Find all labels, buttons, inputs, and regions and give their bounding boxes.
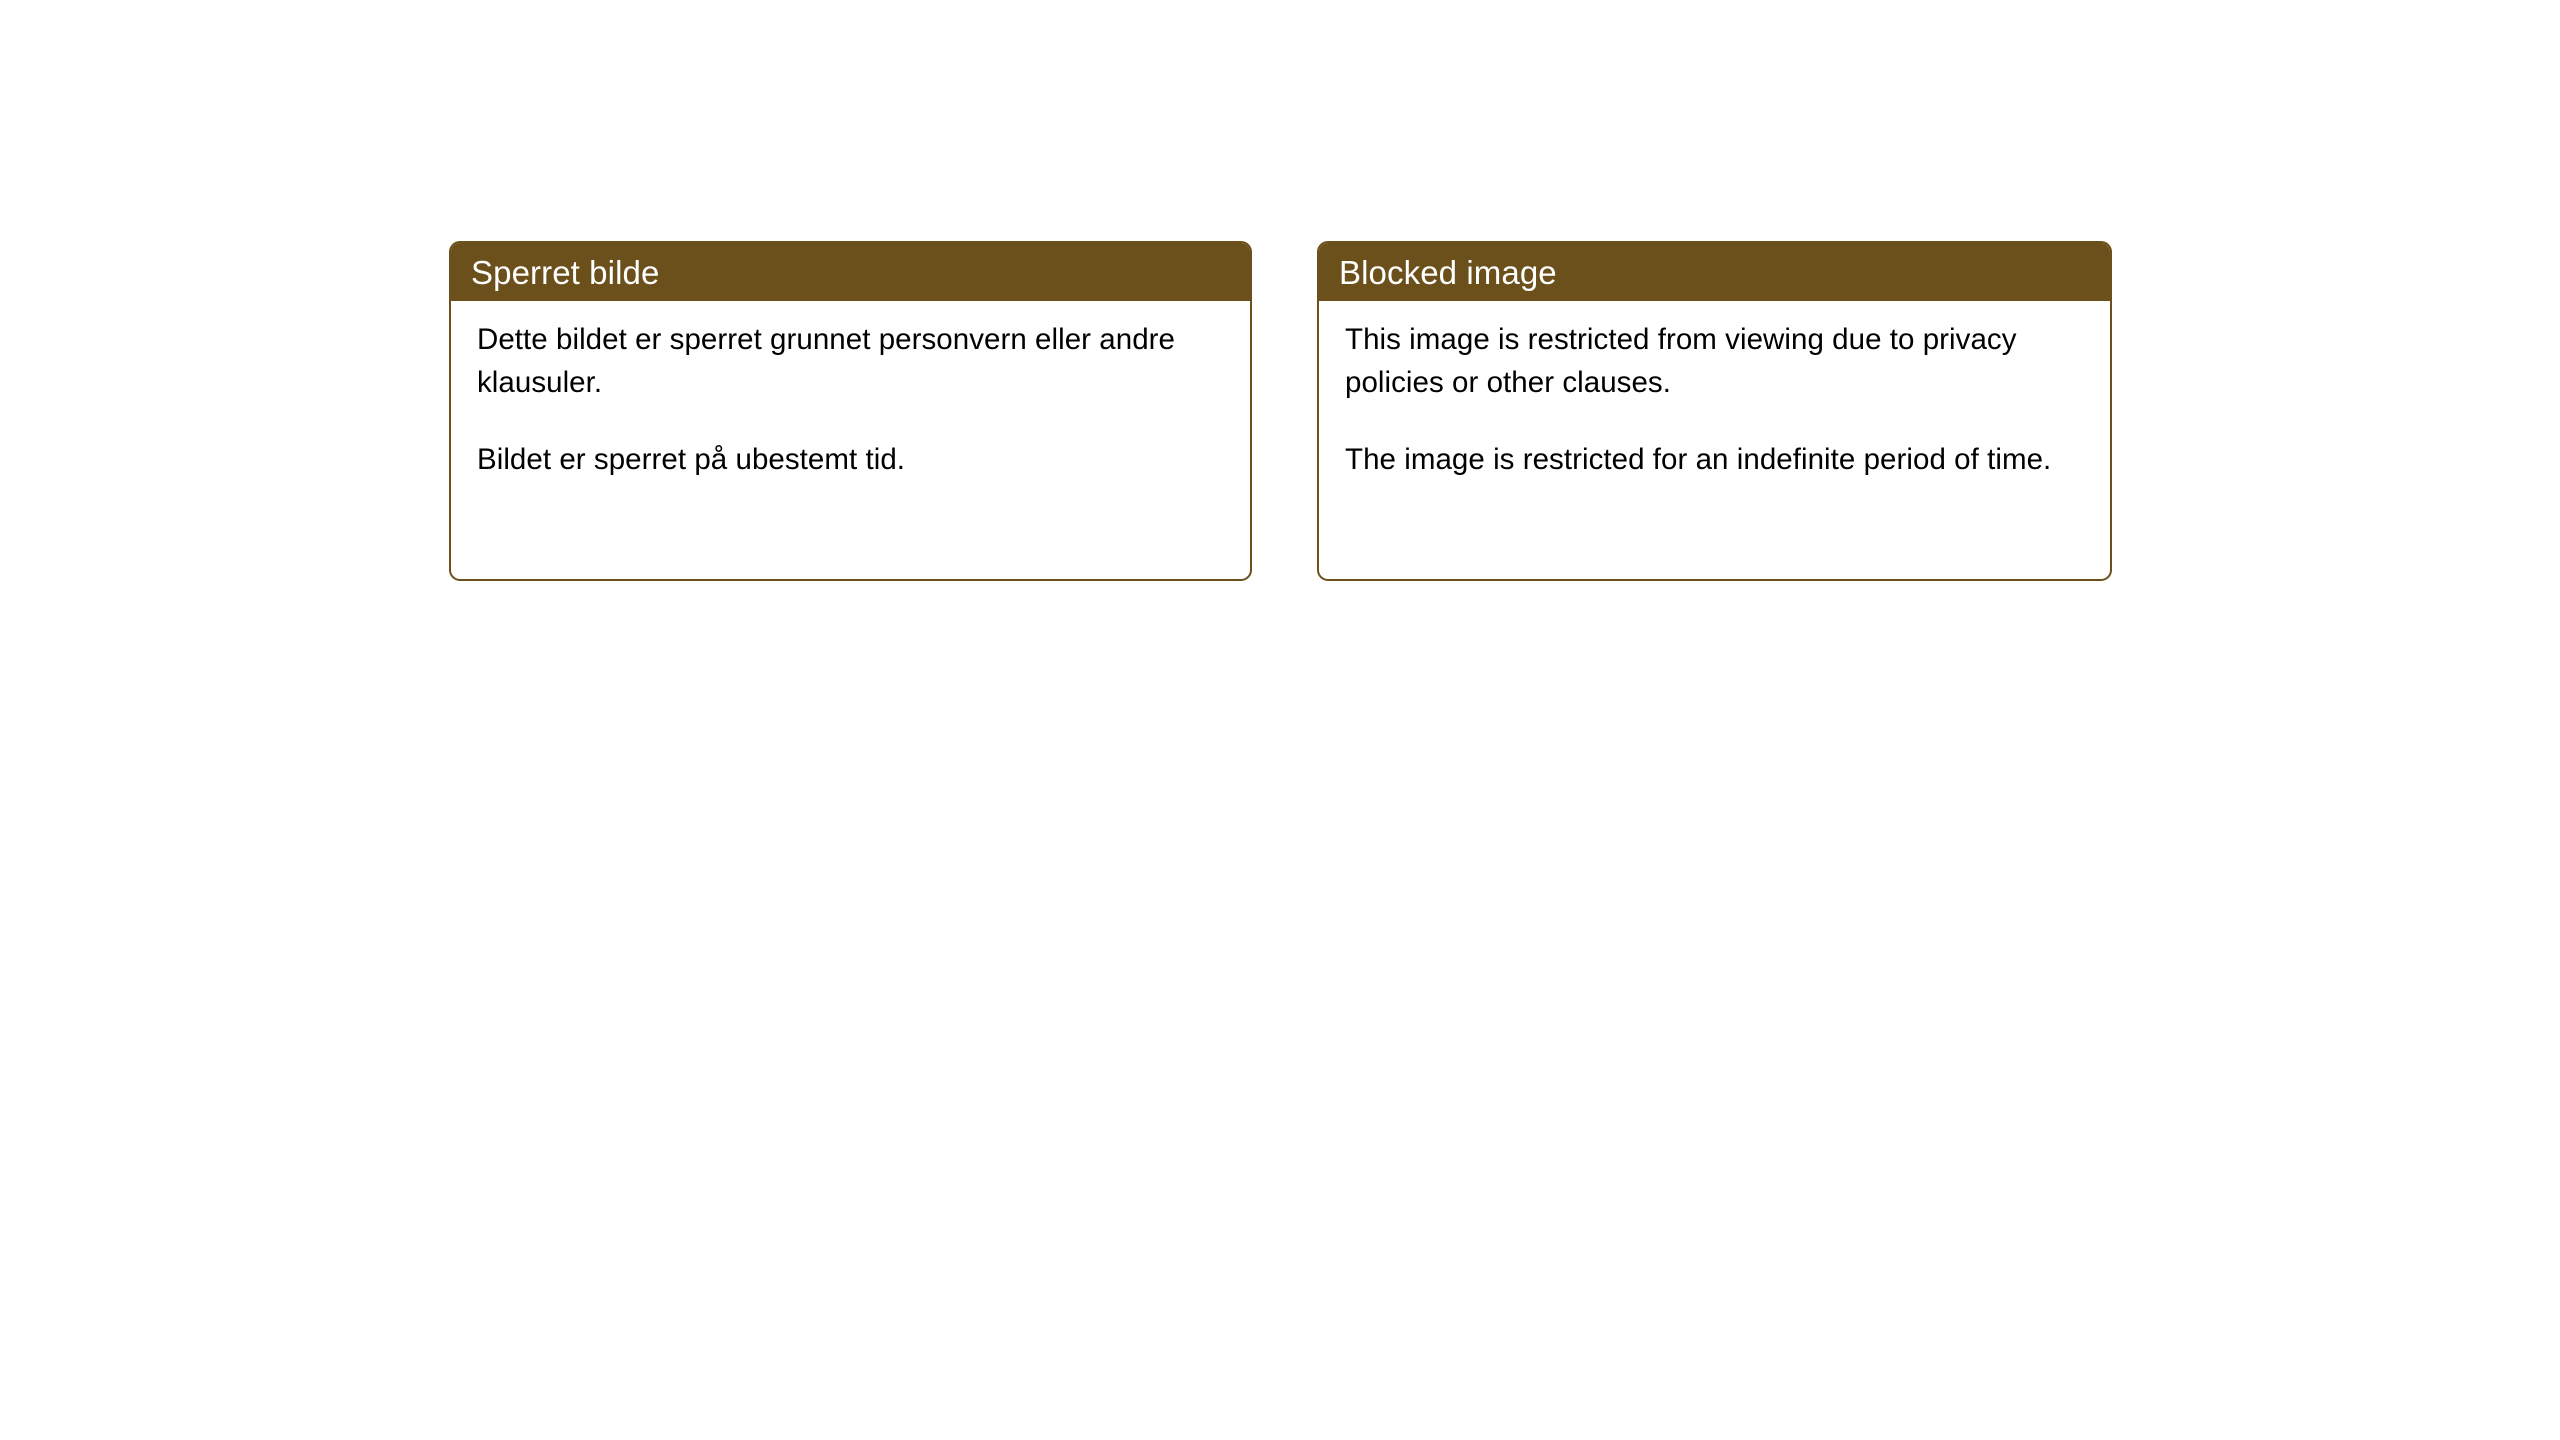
blocked-image-notice-en: Blocked image This image is restricted f… bbox=[1317, 241, 2112, 581]
notice-header-en: Blocked image bbox=[1319, 243, 2110, 301]
notice-paragraph-en-1: This image is restricted from viewing du… bbox=[1345, 318, 2084, 404]
notice-title-en: Blocked image bbox=[1339, 256, 1557, 289]
notice-paragraph-no-2: Bildet er sperret på ubestemt tid. bbox=[477, 438, 1217, 481]
notice-body-en: This image is restricted from viewing du… bbox=[1319, 301, 2110, 481]
notice-header-no: Sperret bilde bbox=[451, 243, 1250, 301]
notice-title-no: Sperret bilde bbox=[471, 256, 659, 289]
notice-paragraph-en-2: The image is restricted for an indefinit… bbox=[1345, 438, 2084, 481]
page-canvas: Sperret bilde Dette bildet er sperret gr… bbox=[0, 0, 2560, 1440]
notice-paragraph-no-1: Dette bildet er sperret grunnet personve… bbox=[477, 318, 1217, 404]
blocked-image-notice-no: Sperret bilde Dette bildet er sperret gr… bbox=[449, 241, 1252, 581]
notice-body-no: Dette bildet er sperret grunnet personve… bbox=[451, 301, 1250, 481]
